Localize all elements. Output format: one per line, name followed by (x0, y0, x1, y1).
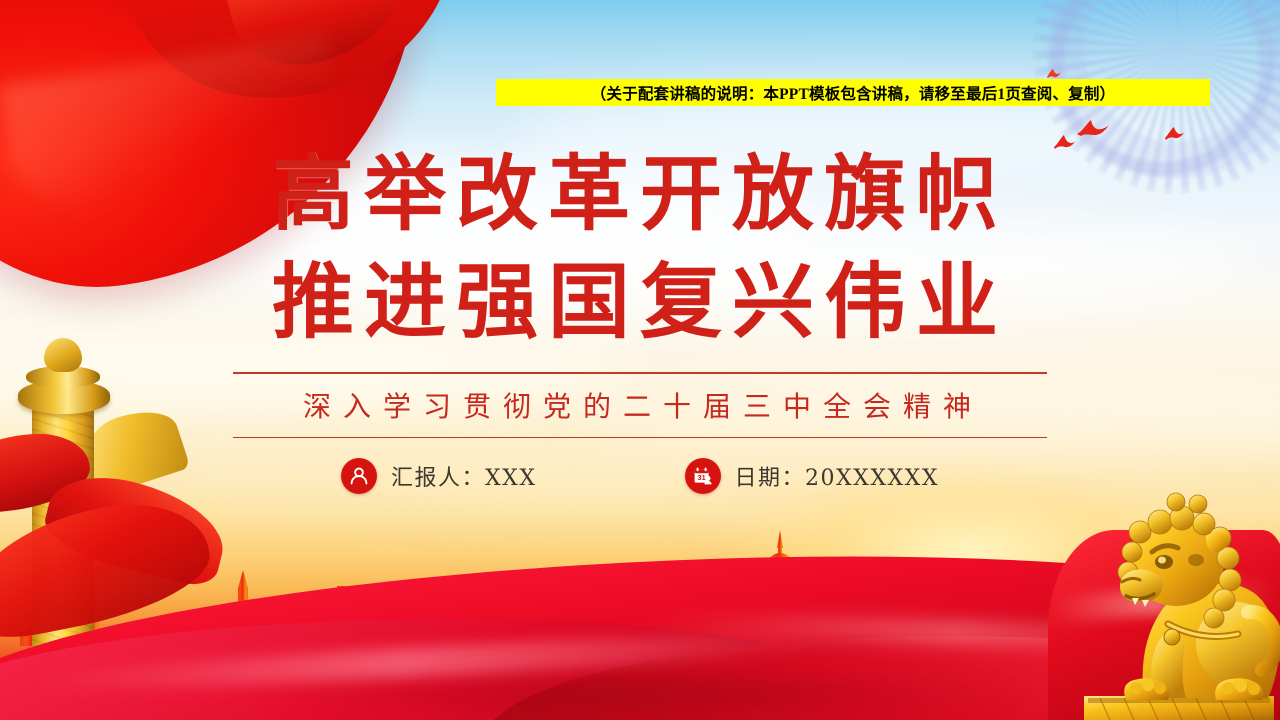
page-title: 高举改革开放旗帜 推进强国复兴伟业 (0, 140, 1280, 356)
subtitle-text: 深入学习贯彻党的二十届三中全会精神 (233, 374, 1047, 437)
bird-icon (1046, 68, 1062, 79)
notice-banner: （关于配套讲稿的说明：本PPT模板包含讲稿，请移至最后1页查阅、复制） (496, 79, 1210, 106)
presenter-meta-row: 汇报人：XXX 31 日期：20XXXXXX (0, 458, 1280, 494)
subtitle-rule-bottom (233, 437, 1047, 439)
bird-icon (1164, 126, 1186, 141)
title-line-2: 推进强国复兴伟业 (0, 248, 1280, 356)
person-icon (341, 458, 377, 494)
subtitle-block: 深入学习贯彻党的二十届三中全会精神 (233, 372, 1047, 438)
svg-text:31: 31 (697, 473, 705, 482)
date-item: 31 日期：20XXXXXX (685, 458, 939, 494)
title-line-1: 高举改革开放旗帜 (0, 140, 1280, 248)
presenter-item: 汇报人：XXX (341, 458, 537, 494)
silk-shadow (244, 670, 1036, 720)
calendar-icon: 31 (685, 458, 721, 494)
presenter-label: 汇报人：XXX (391, 460, 537, 492)
golden-guardian-lion-statue (1048, 474, 1280, 720)
bird-icon (1076, 118, 1110, 138)
presentation-cover-slide: （关于配套讲稿的说明：本PPT模板包含讲稿，请移至最后1页查阅、复制） 高举改革… (0, 0, 1280, 720)
date-label: 日期：20XXXXXX (735, 460, 939, 492)
